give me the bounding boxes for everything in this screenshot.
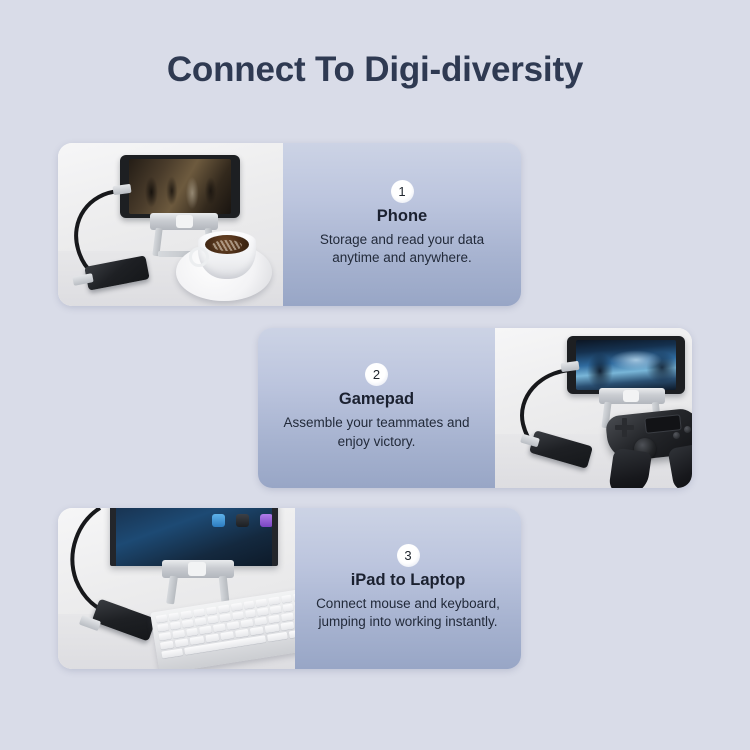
gamepad-button-b xyxy=(684,426,691,433)
page-title: Connect To Digi-diversity xyxy=(0,50,750,90)
coffee-foam xyxy=(212,240,242,251)
card-text-panel-ipad: 3 iPad to Laptop Connect mouse and keybo… xyxy=(295,508,521,669)
feature-card-ipad-to-laptop: 3 iPad to Laptop Connect mouse and keybo… xyxy=(58,508,521,669)
card-text-panel-phone: 1 Phone Storage and read your data anyti… xyxy=(283,143,521,306)
step-badge: 3 xyxy=(397,544,420,567)
card-description: Storage and read your data anytime and a… xyxy=(295,231,510,268)
card-photo-gamepad xyxy=(495,328,692,488)
gamepad-dpad-vertical xyxy=(622,418,627,437)
card-photo-phone xyxy=(58,143,283,306)
app-icon-contacts xyxy=(212,514,225,527)
stand-notch xyxy=(623,390,639,402)
app-icon-photos xyxy=(260,514,272,527)
card-title: iPad to Laptop xyxy=(351,571,466,590)
gamepad-grip-left xyxy=(608,448,652,488)
card-description: Connect mouse and keyboard, jumping into… xyxy=(305,595,511,632)
card-text-panel-gamepad: 2 Gamepad Assemble your teammates and en… xyxy=(258,328,495,488)
feature-card-gamepad: 2 Gamepad Assemble your teammates and en… xyxy=(258,328,692,488)
stand-notch xyxy=(188,562,206,576)
card-title: Phone xyxy=(377,207,427,226)
feature-card-phone: 1 Phone Storage and read your data anyti… xyxy=(58,143,521,306)
card-description: Assemble your teammates and enjoy victor… xyxy=(269,414,484,451)
card-title: Gamepad xyxy=(339,390,414,409)
cup-handle xyxy=(189,247,209,267)
app-icon-camera xyxy=(236,514,249,527)
step-badge: 2 xyxy=(365,363,388,386)
gamepad-button-a xyxy=(673,432,680,439)
card-photo-ipad xyxy=(58,508,295,669)
step-badge: 1 xyxy=(391,180,414,203)
